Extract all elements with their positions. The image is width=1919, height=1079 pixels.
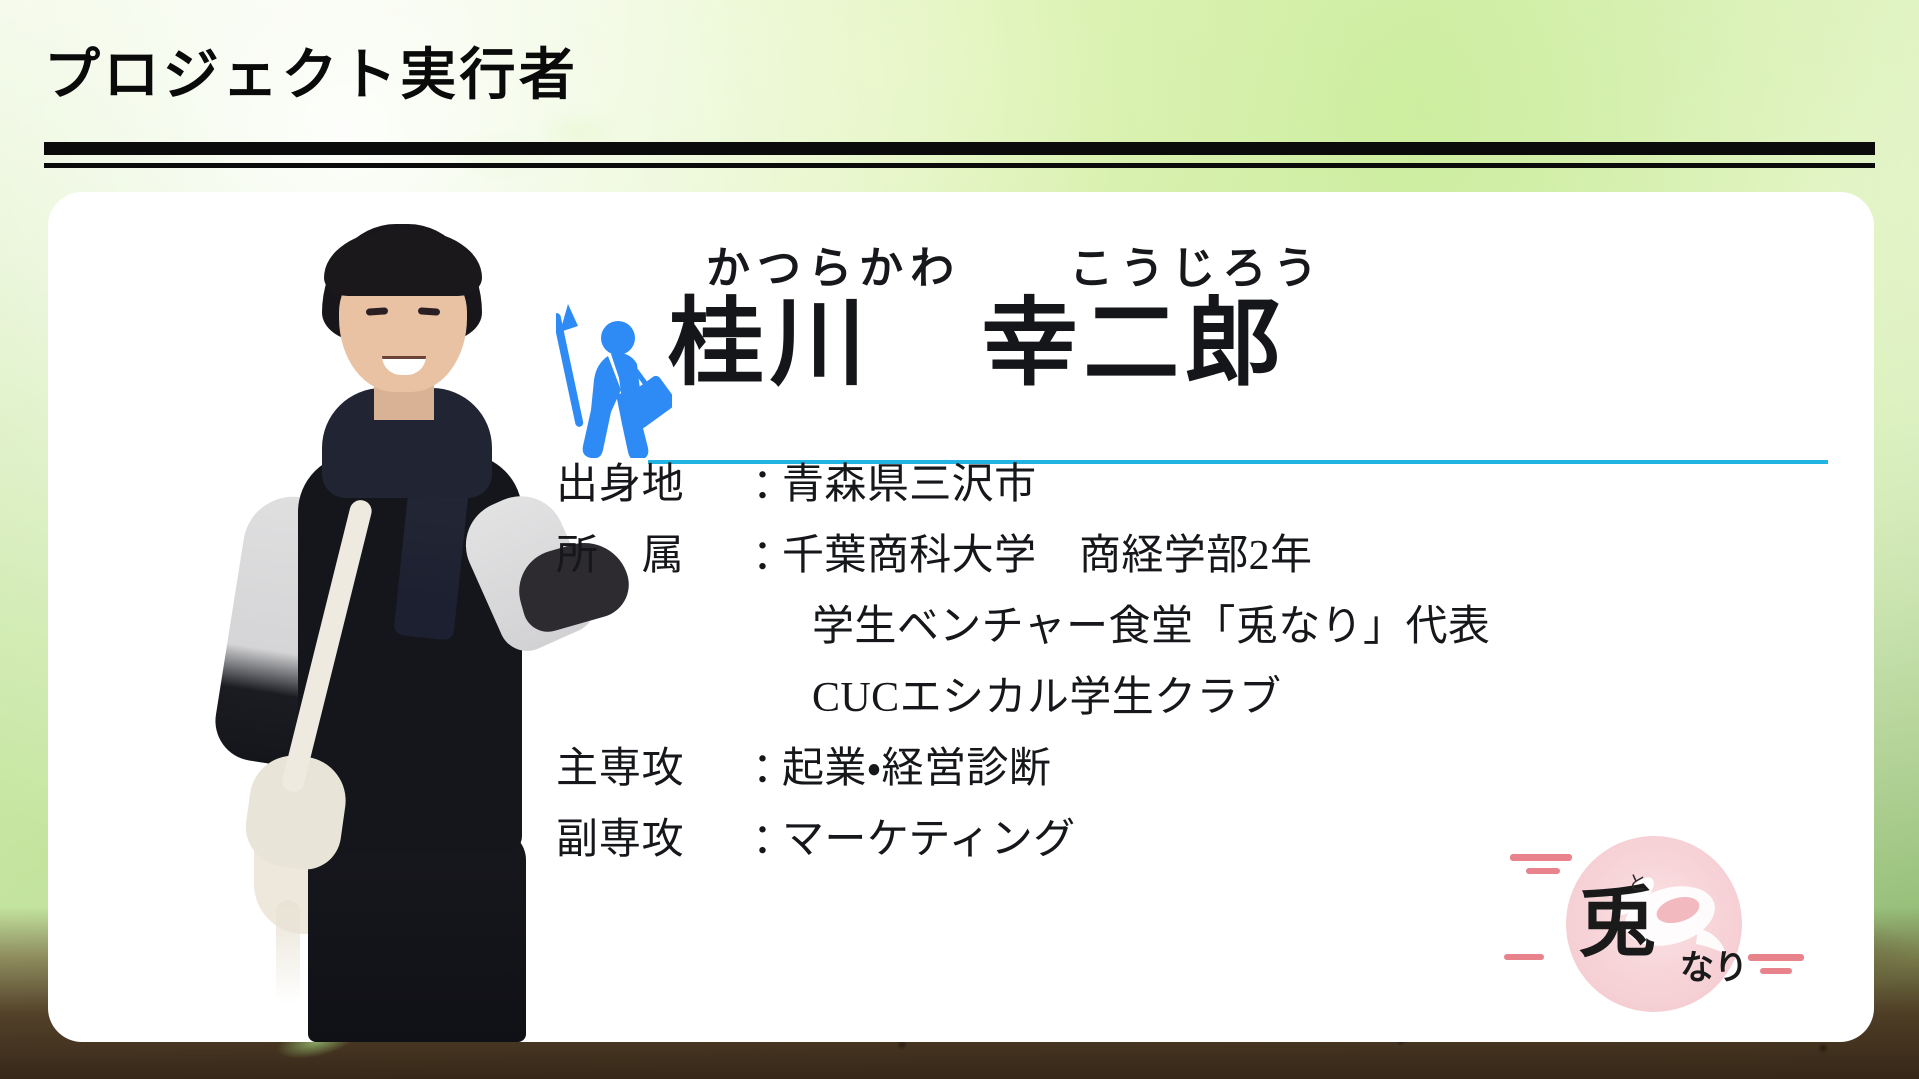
detail-row: 所 属 ： 千葉商科大学 商経学部2年 <box>556 521 1856 582</box>
detail-row: 出身地 ： 青森県三沢市 <box>556 450 1856 511</box>
detail-label: 主専攻 <box>556 734 752 795</box>
detail-label: 出身地 <box>556 450 752 511</box>
detail-value: 青森県三沢市 <box>782 450 1037 511</box>
photo-right-eye <box>418 307 440 316</box>
furigana-given-name: こうじろう <box>1069 232 1324 296</box>
detail-row: 学生ベンチャー食堂「兎なり」代表 <box>556 592 1856 653</box>
page-title: プロジェクト実行者 <box>44 30 578 111</box>
detail-row: CUCエシカル学生クラブ <box>556 663 1856 724</box>
header-rule-thin <box>44 163 1875 168</box>
logo-cloud-motif <box>1526 868 1560 874</box>
logo-main-kanji: 兎 <box>1578 884 1656 962</box>
logo-cloud-motif <box>1510 854 1572 861</box>
detail-separator: ： <box>752 734 782 795</box>
detail-separator: ： <box>752 450 782 511</box>
slide-header: プロジェクト実行者 <box>0 0 1919 185</box>
detail-row: 主専攻 ： 起業・経営診断 <box>556 734 1856 795</box>
detail-label: 所 属 <box>556 521 752 582</box>
slide-canvas: プロジェクト実行者 か <box>0 0 1919 1079</box>
detail-value: 起業・経営診断 <box>782 734 1051 795</box>
profile-card: かつらかわ こうじろう 桂川 幸二郎 <box>48 192 1874 1042</box>
family-name: 桂川 <box>668 292 872 396</box>
detail-label: 副専攻 <box>556 805 752 866</box>
furigana-family-name: かつらかわ <box>706 232 961 296</box>
profile-details: 出身地 ： 青森県三沢市 所 属 ： 千葉商科大学 商経学部2年 学生ベンチャー… <box>556 450 1856 876</box>
logo-suffix: なり <box>1680 940 1748 989</box>
usaginari-logo: 兎 と なり <box>1504 828 1804 1018</box>
kanji-name-row: 桂川 幸二郎 <box>518 292 1838 396</box>
detail-separator: ： <box>752 805 782 866</box>
logo-cloud-motif <box>1760 968 1792 974</box>
business-person-icon <box>556 298 672 458</box>
photo-pants <box>308 830 526 1042</box>
given-name: 幸二郎 <box>982 292 1287 396</box>
photo-hair-front <box>324 230 482 296</box>
detail-value: CUCエシカル学生クラブ <box>782 663 1281 724</box>
furigana-row: かつらかわ こうじろう <box>518 232 1838 296</box>
logo-cloud-motif <box>1748 954 1804 961</box>
detail-value: 千葉商科大学 商経学部2年 <box>782 521 1312 582</box>
detail-separator: ： <box>752 521 782 582</box>
detail-value: マーケティング <box>782 805 1076 866</box>
logo-cloud-motif <box>1504 954 1544 960</box>
detail-value: 学生ベンチャー食堂「兎なり」代表 <box>782 592 1490 653</box>
photo-bag-fringe <box>276 900 300 1004</box>
header-rule-thick <box>44 142 1875 155</box>
logo-ruby: と <box>1628 868 1647 895</box>
